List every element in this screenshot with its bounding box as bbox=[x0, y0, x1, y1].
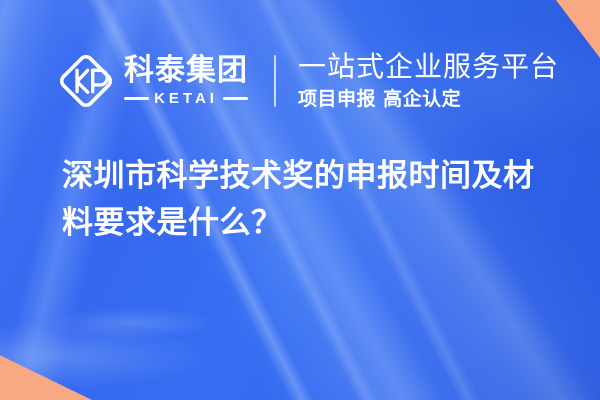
logo-name-en-row: KETAI bbox=[124, 91, 248, 106]
header-divider bbox=[274, 55, 276, 107]
promo-banner: 科泰集团 KETAI 一站式企业服务平台 项目申报 高企认定 深圳市科学技术奖的… bbox=[0, 0, 600, 400]
slogan-sub-text: 项目申报 高企认定 bbox=[298, 88, 559, 111]
banner-header: 科泰集团 KETAI 一站式企业服务平台 项目申报 高企认定 bbox=[58, 46, 559, 116]
banner-headline: 深圳市科学技术奖的申报时间及材料要求是什么？ bbox=[62, 152, 552, 247]
logo-wordmark: 科泰集团 KETAI bbox=[124, 56, 248, 106]
logo-name-en: KETAI bbox=[149, 91, 223, 106]
slogan-block: 一站式企业服务平台 项目申报 高企认定 bbox=[298, 51, 559, 110]
slogan-main-text: 一站式企业服务平台 bbox=[298, 51, 559, 82]
logo-dash-left-icon bbox=[124, 97, 149, 100]
ketai-diamond-kt-logo-icon bbox=[58, 53, 114, 109]
logo-dash-right-icon bbox=[223, 97, 248, 100]
logo-name-cn: 科泰集团 bbox=[124, 56, 248, 86]
